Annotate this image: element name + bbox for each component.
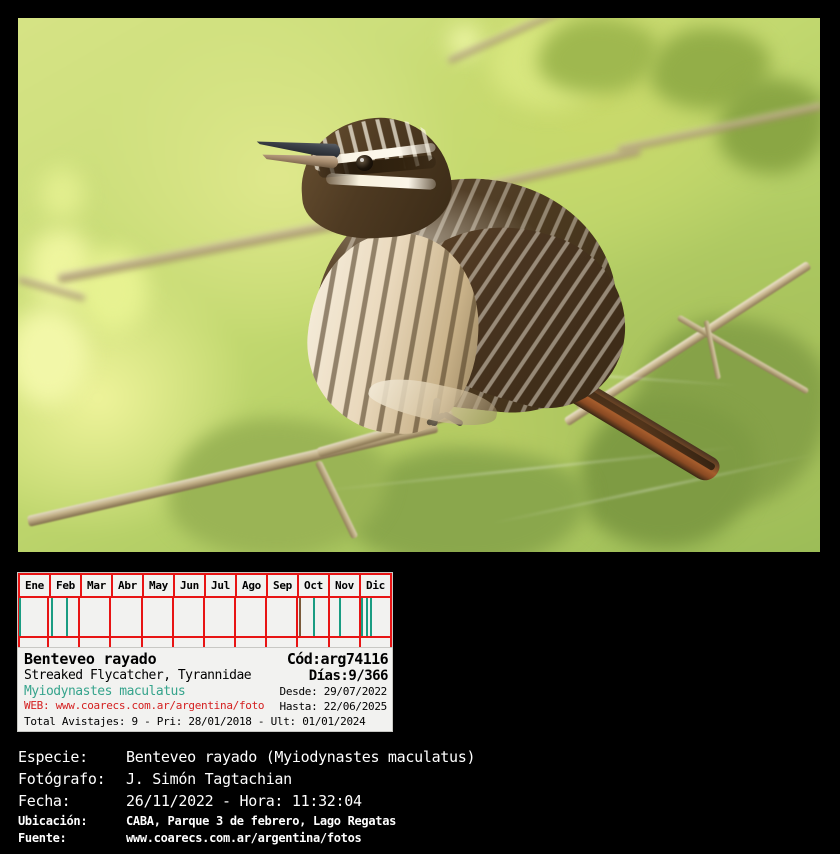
calendar-sighting-track <box>18 598 392 638</box>
bird-eye <box>356 155 373 171</box>
calendar-sighting-mark <box>66 598 68 636</box>
calendar-cell-mar <box>80 598 111 636</box>
species-latin-name: Myiodynastes maculatus <box>24 684 185 699</box>
calendar-sighting-mark <box>339 598 341 636</box>
desde-date: Desde: 29/07/2022 <box>280 685 387 698</box>
calendar-sighting-mark <box>51 598 53 636</box>
calendar-month-header: Ene Feb Mar Abr May Jun Jul Ago Sep Oct … <box>18 573 392 598</box>
calendar-sighting-mark <box>313 598 315 636</box>
calendar-month-dic: Dic <box>361 575 392 596</box>
total-sightings-line: Total Avistajes: 9 - Pri: 28/01/2018 - U… <box>24 714 388 728</box>
meta-row-fotografo: Fotógrafo: J. Simón Tagtachian <box>18 770 828 792</box>
calendar-cell-may <box>143 598 174 636</box>
calendar-month-ago: Ago <box>237 575 268 596</box>
calendar-footer-grid <box>18 638 392 648</box>
calendar-cell-abr <box>112 598 143 636</box>
calendar-footer-cell-mar <box>80 638 111 647</box>
card-title-row: Benteveo rayado Cód:arg74116 <box>24 650 388 668</box>
meta-value-fuente[interactable]: www.coarecs.com.ar/argentina/fotos <box>126 831 361 845</box>
card-latin-row: Myiodynastes maculatus Desde: 29/07/2022 <box>24 684 388 699</box>
calendar-cell-ago <box>236 598 267 636</box>
species-code: Cód:arg74116 <box>287 650 388 668</box>
calendar-month-oct: Oct <box>299 575 330 596</box>
calendar-month-mar: Mar <box>82 575 113 596</box>
bokeh-blob <box>40 168 84 220</box>
meta-value-ubicacion: CABA, Parque 3 de febrero, Lago Regatas <box>126 814 396 828</box>
calendar-sighting-mark <box>366 598 368 636</box>
sightings-calendar: Ene Feb Mar Abr May Jun Jul Ago Sep Oct … <box>18 573 392 648</box>
calendar-cell-jun <box>174 598 205 636</box>
meta-label-especie: Especie: <box>18 748 126 766</box>
card-web-row: WEB: www.coarecs.com.ar/argentina/foto H… <box>24 699 388 714</box>
calendar-month-sep: Sep <box>268 575 299 596</box>
calendar-footer-cell-ago <box>236 638 267 647</box>
calendar-sighting-mark <box>19 598 21 636</box>
species-english-name: Streaked Flycatcher, Tyrannidae <box>24 668 276 683</box>
meta-row-ubicacion: Ubicación: CABA, Parque 3 de febrero, La… <box>18 814 828 831</box>
calendar-cell-sep <box>267 598 298 636</box>
card-web-link[interactable]: WEB: www.coarecs.com.ar/argentina/foto <box>24 699 264 712</box>
calendar-footer-cell-sep <box>267 638 298 647</box>
calendar-footer-cell-oct <box>299 638 330 647</box>
calendar-footer-cell-abr <box>112 638 143 647</box>
calendar-cell-ene <box>18 598 49 636</box>
calendar-footer-cell-ene <box>18 638 49 647</box>
calendar-sighting-mark <box>370 598 372 636</box>
card-english-row: Streaked Flycatcher, Tyrannidae Días:9/3… <box>24 668 388 684</box>
meta-label-fuente: Fuente: <box>18 831 126 845</box>
calendar-footer-cell-feb <box>49 638 80 647</box>
photo-metadata-block: Especie: Benteveo rayado (Myiodynastes m… <box>18 748 828 848</box>
meta-row-fuente: Fuente: www.coarecs.com.ar/argentina/fot… <box>18 831 828 848</box>
days-count: Días:9/366 <box>309 668 388 684</box>
calendar-cell-feb <box>49 598 80 636</box>
calendar-sighting-mark <box>361 598 363 636</box>
meta-value-fotografo: J. Simón Tagtachian <box>126 770 292 788</box>
calendar-footer-cell-may <box>143 638 174 647</box>
calendar-month-jun: Jun <box>175 575 206 596</box>
species-info-card: Ene Feb Mar Abr May Jun Jul Ago Sep Oct … <box>17 572 393 732</box>
hasta-date: Hasta: 22/06/2025 <box>280 700 387 713</box>
calendar-footer-cell-jul <box>205 638 236 647</box>
calendar-month-nov: Nov <box>330 575 361 596</box>
bird-eye-highlight <box>360 158 364 162</box>
meta-label-ubicacion: Ubicación: <box>18 814 126 828</box>
calendar-month-jul: Jul <box>206 575 237 596</box>
meta-label-fotografo: Fotógrafo: <box>18 770 126 788</box>
meta-row-especie: Especie: Benteveo rayado (Myiodynastes m… <box>18 748 828 770</box>
calendar-sighting-mark <box>299 598 301 636</box>
meta-value-especie: Benteveo rayado (Myiodynastes maculatus) <box>126 748 475 766</box>
calendar-footer-cell-jun <box>174 638 205 647</box>
meta-row-fecha: Fecha: 26/11/2022 - Hora: 11:32:04 <box>18 792 828 814</box>
meta-label-fecha: Fecha: <box>18 792 126 810</box>
calendar-month-may: May <box>144 575 175 596</box>
meta-value-fecha: 26/11/2022 - Hora: 11:32:04 <box>126 792 362 810</box>
calendar-footer-cell-nov <box>330 638 361 647</box>
calendar-cell-nov <box>330 598 361 636</box>
calendar-month-feb: Feb <box>51 575 82 596</box>
calendar-month-ene: Ene <box>18 575 51 596</box>
bird-photograph <box>18 18 820 552</box>
calendar-cell-jul <box>205 598 236 636</box>
calendar-footer-cell-dic <box>361 638 392 647</box>
calendar-month-abr: Abr <box>113 575 144 596</box>
card-text-block: Benteveo rayado Cód:arg74116 Streaked Fl… <box>18 648 392 731</box>
species-common-name: Benteveo rayado <box>24 650 156 668</box>
